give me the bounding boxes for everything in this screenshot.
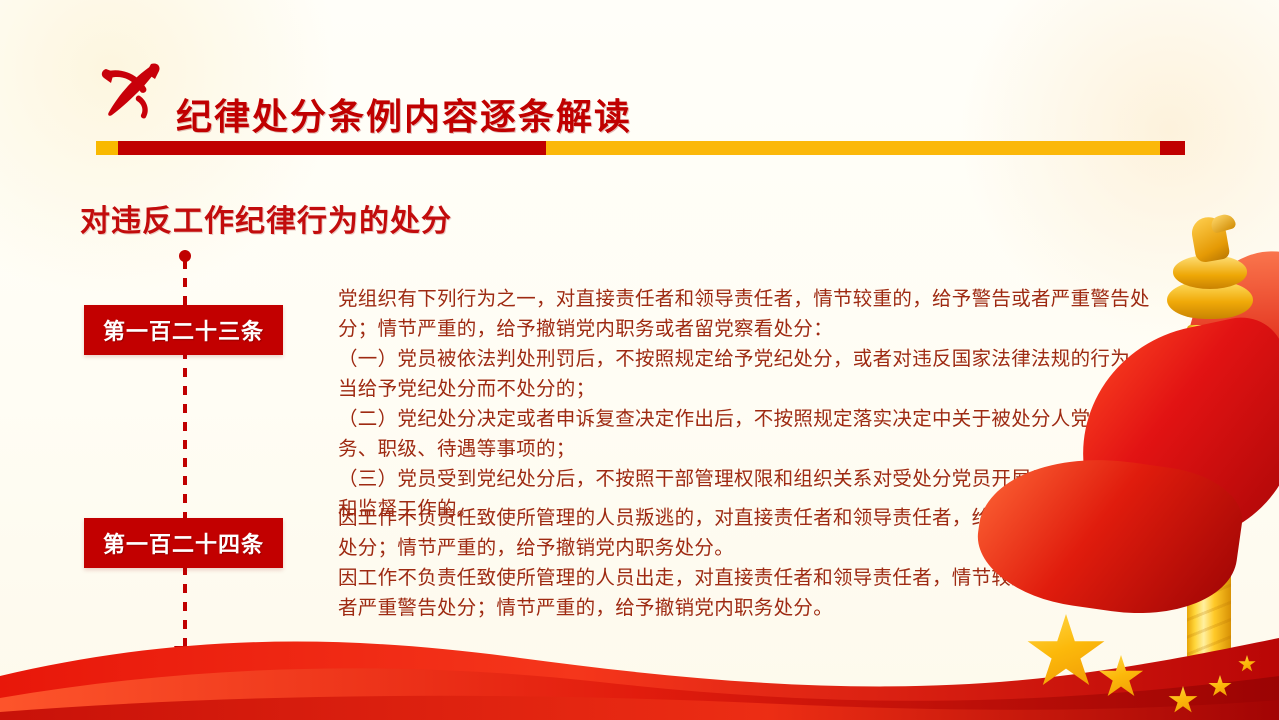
page-title: 纪律处分条例内容逐条解读 bbox=[176, 88, 632, 140]
divider-gold-segment bbox=[546, 141, 1160, 155]
header-divider bbox=[0, 141, 1279, 155]
article-123-paragraph-2: （一）党员被依法判处刑罚后，不按照规定给予党纪处分，或者对违反国家法律法规的行为… bbox=[338, 344, 1174, 404]
party-hammer-sickle-emblem-icon bbox=[96, 55, 168, 127]
article-badge-124-label: 第一百二十四条 bbox=[103, 527, 264, 559]
divider-red-cap-right bbox=[1160, 141, 1185, 155]
pillar-hou-beast-head bbox=[1209, 212, 1236, 234]
divider-gold-cap-left bbox=[96, 141, 118, 155]
article-123-paragraph-1: 党组织有下列行为之一，对直接责任者和领导责任者，情节较重的，给予警告或者严重警告… bbox=[338, 284, 1174, 344]
article-badge-123[interactable]: 第一百二十三条 bbox=[84, 305, 283, 355]
section-subtitle: 对违反工作纪律行为的处分 bbox=[80, 196, 452, 240]
slide-header: 纪律处分条例内容逐条解读 bbox=[0, 48, 1279, 140]
article-123-paragraph-3: （二）党纪处分决定或者申诉复查决定作出后，不按照规定落实决定中关于被处分人党籍、… bbox=[338, 404, 1174, 464]
article-badge-124[interactable]: 第一百二十四条 bbox=[84, 518, 283, 568]
article-badge-123-label: 第一百二十三条 bbox=[103, 314, 264, 346]
slide-canvas: 纪律处分条例内容逐条解读 对违反工作纪律行为的处分 第一百二十三条 党组织有下列… bbox=[0, 0, 1279, 720]
divider-red-segment bbox=[118, 141, 546, 155]
